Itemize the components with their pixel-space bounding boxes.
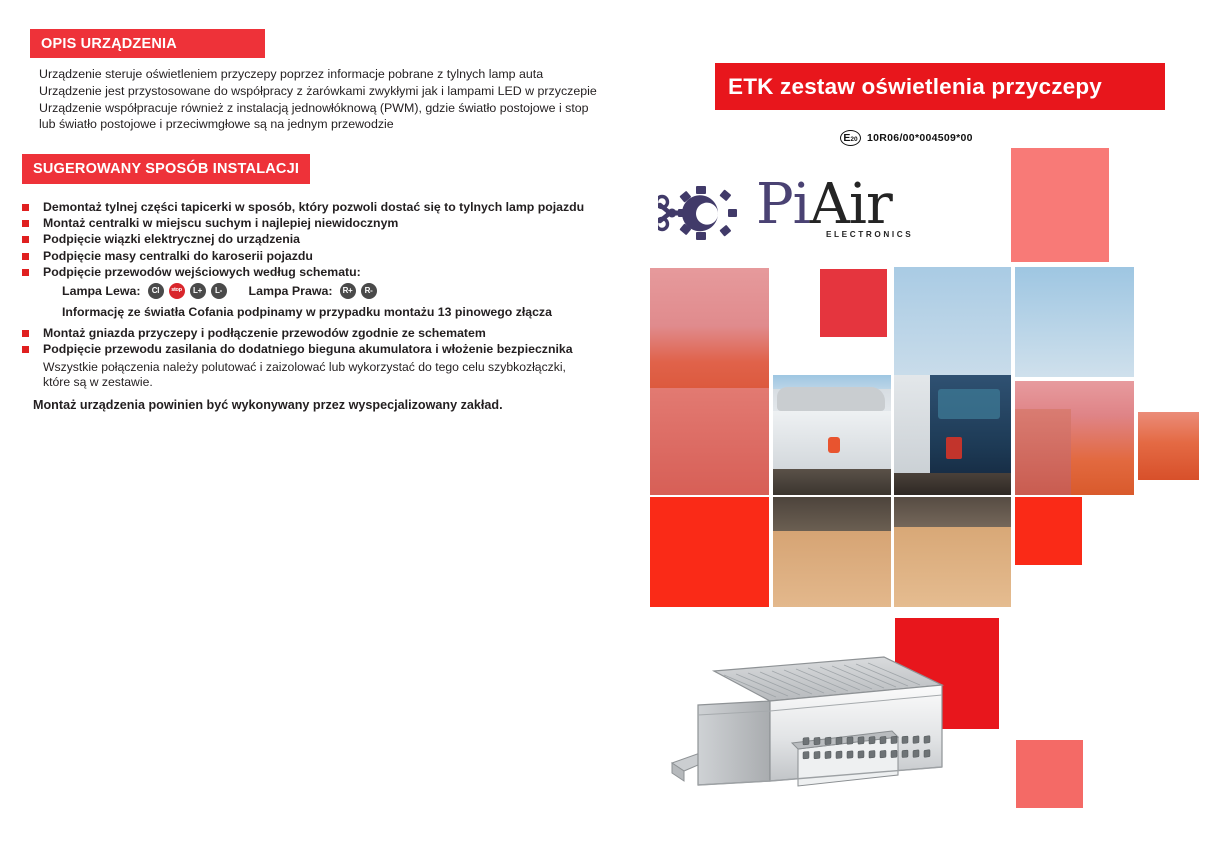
mosaic-tile-bush-far-right [1138,412,1199,480]
list-item: Montaż gniazda przyczepy i podłączenie p… [22,325,622,341]
bullet-square-icon [22,236,29,243]
emark-circle-icon: E20 [840,130,861,146]
list-item: Podpięcie masy centralki do karoserii po… [22,248,622,264]
emark-code: 10R06/00*004509*00 [867,132,973,144]
list-item: Podpięcie przewodów wejściowych według s… [22,264,622,280]
list-item: Montaż centralki w miejscu suchym i najl… [22,215,622,231]
emark-approval: E20 10R06/00*004509*00 [840,129,973,147]
badge-right-plus: R+ [340,283,356,299]
logo-text-pi: Pi [756,172,810,237]
intro-line: Urządzenie steruje oświetleniem przyczep… [39,66,614,83]
bullet-square-icon [22,346,29,353]
list-item: Podpięcie wiązki elektrycznej do urządze… [22,231,622,247]
intro-line: Urządzenie jest przystosowane do współpr… [39,83,614,100]
list-item: Demontaż tylnej części tapicerki w sposó… [22,199,622,215]
installation-steps-list: Demontaż tylnej części tapicerki w sposó… [22,199,622,414]
section-header-description: OPIS URZĄDZENIA [30,29,265,58]
logo-text-air: Air [810,172,892,237]
badge-right-minus: R- [361,283,377,299]
intro-paragraph: Urządzenie steruje oświetleniem przyczep… [39,66,614,133]
right-visual-panel: ETK zestaw oświetlenia przyczepy E20 10R… [640,0,1227,854]
mosaic-tile-trailer [773,375,891,495]
badge-left-plus: L+ [190,283,206,299]
lamp-wiring-row: Lampa Lewa: Cl stop L+ L- Lampa Prawa: R… [22,280,622,301]
lamp-left-label: Lampa Lewa: [62,284,141,298]
mosaic-tile-ground-left [773,497,891,607]
logo-subtitle: ELECTRONICS [826,230,913,239]
list-item-label: Montaż gniazda przyczepy i podłączenie p… [43,326,486,340]
mosaic-tile-trailer-red [650,388,769,495]
left-info-panel: OPIS URZĄDZENIA Urządzenie steruje oświe… [0,0,640,854]
intro-line: Urządzenie współpracuje również z instal… [39,100,614,117]
list-item-label: Podpięcie masy centralki do karoserii po… [43,249,313,263]
mosaic-block-pink-lower [1016,740,1083,808]
list-item-label: Podpięcie wiązki elektrycznej do urządze… [43,232,300,246]
intro-line: lub światło postojowe i przeciwmgłowe są… [39,116,614,133]
bullet-square-icon [22,204,29,211]
product-title-banner: ETK zestaw oświetlenia przyczepy [715,63,1165,110]
list-item-label: Demontaż tylnej części tapicerki w sposó… [43,200,584,214]
mosaic-block-bright-red [650,497,769,607]
solder-note-line: Wszystkie połączenia należy polutować i … [43,360,622,375]
emark-letter: E [843,132,850,145]
list-item-label: Montaż centralki w miejscu suchym i najl… [43,216,398,230]
bullet-square-icon [22,253,29,260]
section-header-installation: SUGEROWANY SPOSÓB INSTALACJI [22,154,310,184]
bullet-square-icon [22,330,29,337]
list-item-label: Podpięcie przewodów wejściowych według s… [43,265,361,279]
solder-note-line: które są w zestawie. [43,375,622,390]
list-item: Podpięcie przewodu zasilania do dodatnie… [22,341,622,357]
badge-left-clearance: Cl [148,283,164,299]
mosaic-tile-sky-right [1015,267,1134,377]
mosaic-tile-car-rear [894,375,1011,495]
mosaic-block-pink [1011,148,1109,262]
gear-circuit-logo-icon [658,184,750,242]
list-item-label: Podpięcie przewodu zasilania do dodatnie… [43,342,573,356]
bullet-square-icon [22,220,29,227]
emark-number: 20 [850,133,857,146]
reverse-light-note: Informację ze światła Cofania podpinamy … [22,304,622,320]
mosaic-tile-bush-right [1015,381,1134,495]
mosaic-tile-sky-center [894,267,1011,377]
device-product-image [670,645,990,805]
mosaic-block-red-lower [1015,497,1082,565]
logo-wordmark: PiAir [756,172,892,237]
lamp-right-label: Lampa Prawa: [249,284,333,298]
badge-left-minus: L- [211,283,227,299]
solder-note: Wszystkie połączenia należy polutować i … [22,360,622,391]
bullet-square-icon [22,269,29,276]
mosaic-block-red [820,269,887,337]
final-note: Montaż urządzenia powinien być wykonywan… [22,397,622,414]
mosaic-tile-ground-right [894,497,1011,607]
badge-left-stop: stop [169,283,185,299]
brand-logo: PiAir ELECTRONICS [658,178,928,250]
